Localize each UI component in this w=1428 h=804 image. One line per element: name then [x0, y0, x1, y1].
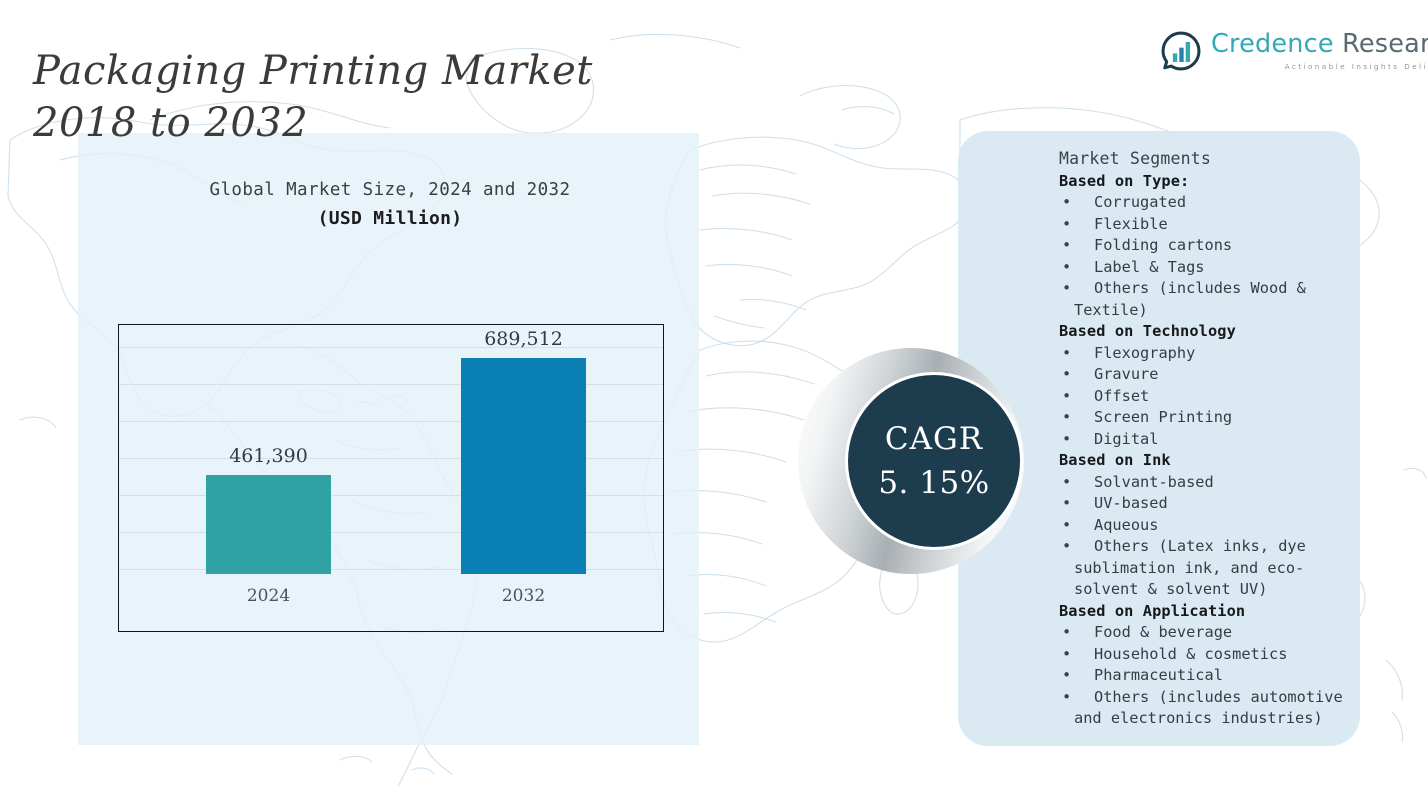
segment-list-item[interactable]: •Flexography: [1059, 343, 1359, 365]
bullet-icon: •: [1059, 687, 1094, 709]
segment-list-item[interactable]: •Folding cartons: [1059, 235, 1359, 257]
segment-list-item[interactable]: •Corrugated: [1059, 192, 1359, 214]
segment-group-heading: Based on Application: [1059, 601, 1359, 623]
segment-list-item[interactable]: •Solvant-based: [1059, 472, 1359, 494]
bar-2032[interactable]: 689,512 2032: [461, 358, 586, 574]
chart-plot-area: 461,390 2024 689,512 2032: [118, 324, 664, 632]
bullet-icon: •: [1059, 407, 1094, 429]
page-title: Packaging Printing Market 2018 to 2032: [33, 45, 713, 149]
segments-groups: Based on Type:•Corrugated•Flexible•Foldi…: [1059, 171, 1359, 730]
segment-list-item[interactable]: •Offset: [1059, 386, 1359, 408]
brand-name-primary: Credence: [1211, 29, 1334, 59]
segment-item-label: Flexography: [1094, 343, 1359, 365]
chart-subtitle: (USD Million): [110, 208, 670, 229]
bullet-icon: •: [1059, 235, 1094, 257]
segment-item-label: Aqueous: [1094, 515, 1359, 537]
chart-title: Global Market Size, 2024 and 2032: [110, 180, 670, 200]
segment-list-item[interactable]: •Food & beverage: [1059, 622, 1359, 644]
segment-list-item[interactable]: •Gravure: [1059, 364, 1359, 386]
bullet-icon: •: [1059, 665, 1094, 687]
bullet-icon: •: [1059, 429, 1094, 451]
bullet-icon: •: [1059, 515, 1094, 537]
segment-list-item[interactable]: •Others (includes automotiveand electron…: [1059, 687, 1359, 730]
segment-list-item[interactable]: •UV-based: [1059, 493, 1359, 515]
segment-item-label: Digital: [1094, 429, 1359, 451]
segment-item-label: Corrugated: [1094, 192, 1359, 214]
bullet-icon: •: [1059, 644, 1094, 666]
bar-rect-2024: [206, 475, 331, 574]
segment-item-label: Folding cartons: [1094, 235, 1359, 257]
bullet-icon: •: [1059, 472, 1094, 494]
bullet-icon: •: [1059, 257, 1094, 279]
segment-list-item[interactable]: •Digital: [1059, 429, 1359, 451]
segment-group-heading: Based on Technology: [1059, 321, 1359, 343]
bullet-icon: •: [1059, 536, 1094, 558]
brand-name-secondary: Research: [1342, 29, 1428, 59]
bullet-icon: •: [1059, 493, 1094, 515]
segment-list-item[interactable]: •Household & cosmetics: [1059, 644, 1359, 666]
segment-group-heading: Based on Ink: [1059, 450, 1359, 472]
bullet-icon: •: [1059, 364, 1094, 386]
segment-item-label: Household & cosmetics: [1094, 644, 1359, 666]
brand-tagline: Actionable Insights Delivered: [1211, 63, 1428, 70]
brand-logo[interactable]: Credence Research Actionable Insights De…: [1160, 30, 1428, 72]
segment-item-label: UV-based: [1094, 493, 1359, 515]
bullet-icon: •: [1059, 214, 1094, 236]
bullet-icon: •: [1059, 386, 1094, 408]
segment-item-label: Others (includes automotiveand electroni…: [1094, 687, 1359, 730]
segment-item-label: Gravure: [1094, 364, 1359, 386]
segment-list-item[interactable]: •Label & Tags: [1059, 257, 1359, 279]
segment-item-label: Others (Latex inks, dyesublimation ink, …: [1094, 536, 1359, 601]
bullet-icon: •: [1059, 192, 1094, 214]
market-segments: Market Segments Based on Type:•Corrugate…: [1059, 148, 1359, 730]
segment-item-label: Flexible: [1094, 214, 1359, 236]
cagr-value: 5. 15%: [878, 465, 989, 501]
cagr-badge: CAGR 5. 15%: [845, 372, 1023, 550]
bullet-icon: •: [1059, 622, 1094, 644]
bullet-icon: •: [1059, 343, 1094, 365]
segments-title: Market Segments: [1059, 148, 1359, 170]
segment-list-item[interactable]: •Pharmaceutical: [1059, 665, 1359, 687]
page-title-line-1: Packaging Printing Market: [33, 45, 713, 97]
segment-group-heading: Based on Type:: [1059, 171, 1359, 193]
segment-list-item[interactable]: •Others (includes Wood &Textile): [1059, 278, 1359, 321]
segment-list-item[interactable]: •Others (Latex inks, dyesublimation ink,…: [1059, 536, 1359, 601]
brand-wordmark: Credence Research Actionable Insights De…: [1211, 32, 1428, 70]
segment-item-label: Offset: [1094, 386, 1359, 408]
segment-list-item[interactable]: •Flexible: [1059, 214, 1359, 236]
bar-value-2024: 461,390: [229, 445, 308, 467]
gridline: [119, 347, 663, 348]
bullet-icon: •: [1059, 278, 1094, 300]
segment-item-label: Others (includes Wood &Textile): [1094, 278, 1359, 321]
segment-item-label: Pharmaceutical: [1094, 665, 1359, 687]
segment-item-label: Food & beverage: [1094, 622, 1359, 644]
bar-value-2032: 689,512: [484, 328, 563, 350]
bar-chart-bubble-icon: [1160, 30, 1202, 72]
bar-rect-2032: [461, 358, 586, 574]
page-title-line-2: 2018 to 2032: [33, 97, 713, 149]
segment-item-label: Label & Tags: [1094, 257, 1359, 279]
market-size-chart: Global Market Size, 2024 and 2032 (USD M…: [110, 180, 670, 229]
segment-item-label: Screen Printing: [1094, 407, 1359, 429]
cagr-label: CAGR: [885, 421, 983, 457]
bar-label-2032: 2032: [502, 586, 545, 606]
bar-2024[interactable]: 461,390 2024: [206, 475, 331, 574]
segment-item-label: Solvant-based: [1094, 472, 1359, 494]
bar-label-2024: 2024: [247, 586, 290, 606]
segment-list-item[interactable]: •Screen Printing: [1059, 407, 1359, 429]
cagr-globe: CAGR 5. 15%: [798, 348, 1024, 574]
segment-list-item[interactable]: •Aqueous: [1059, 515, 1359, 537]
